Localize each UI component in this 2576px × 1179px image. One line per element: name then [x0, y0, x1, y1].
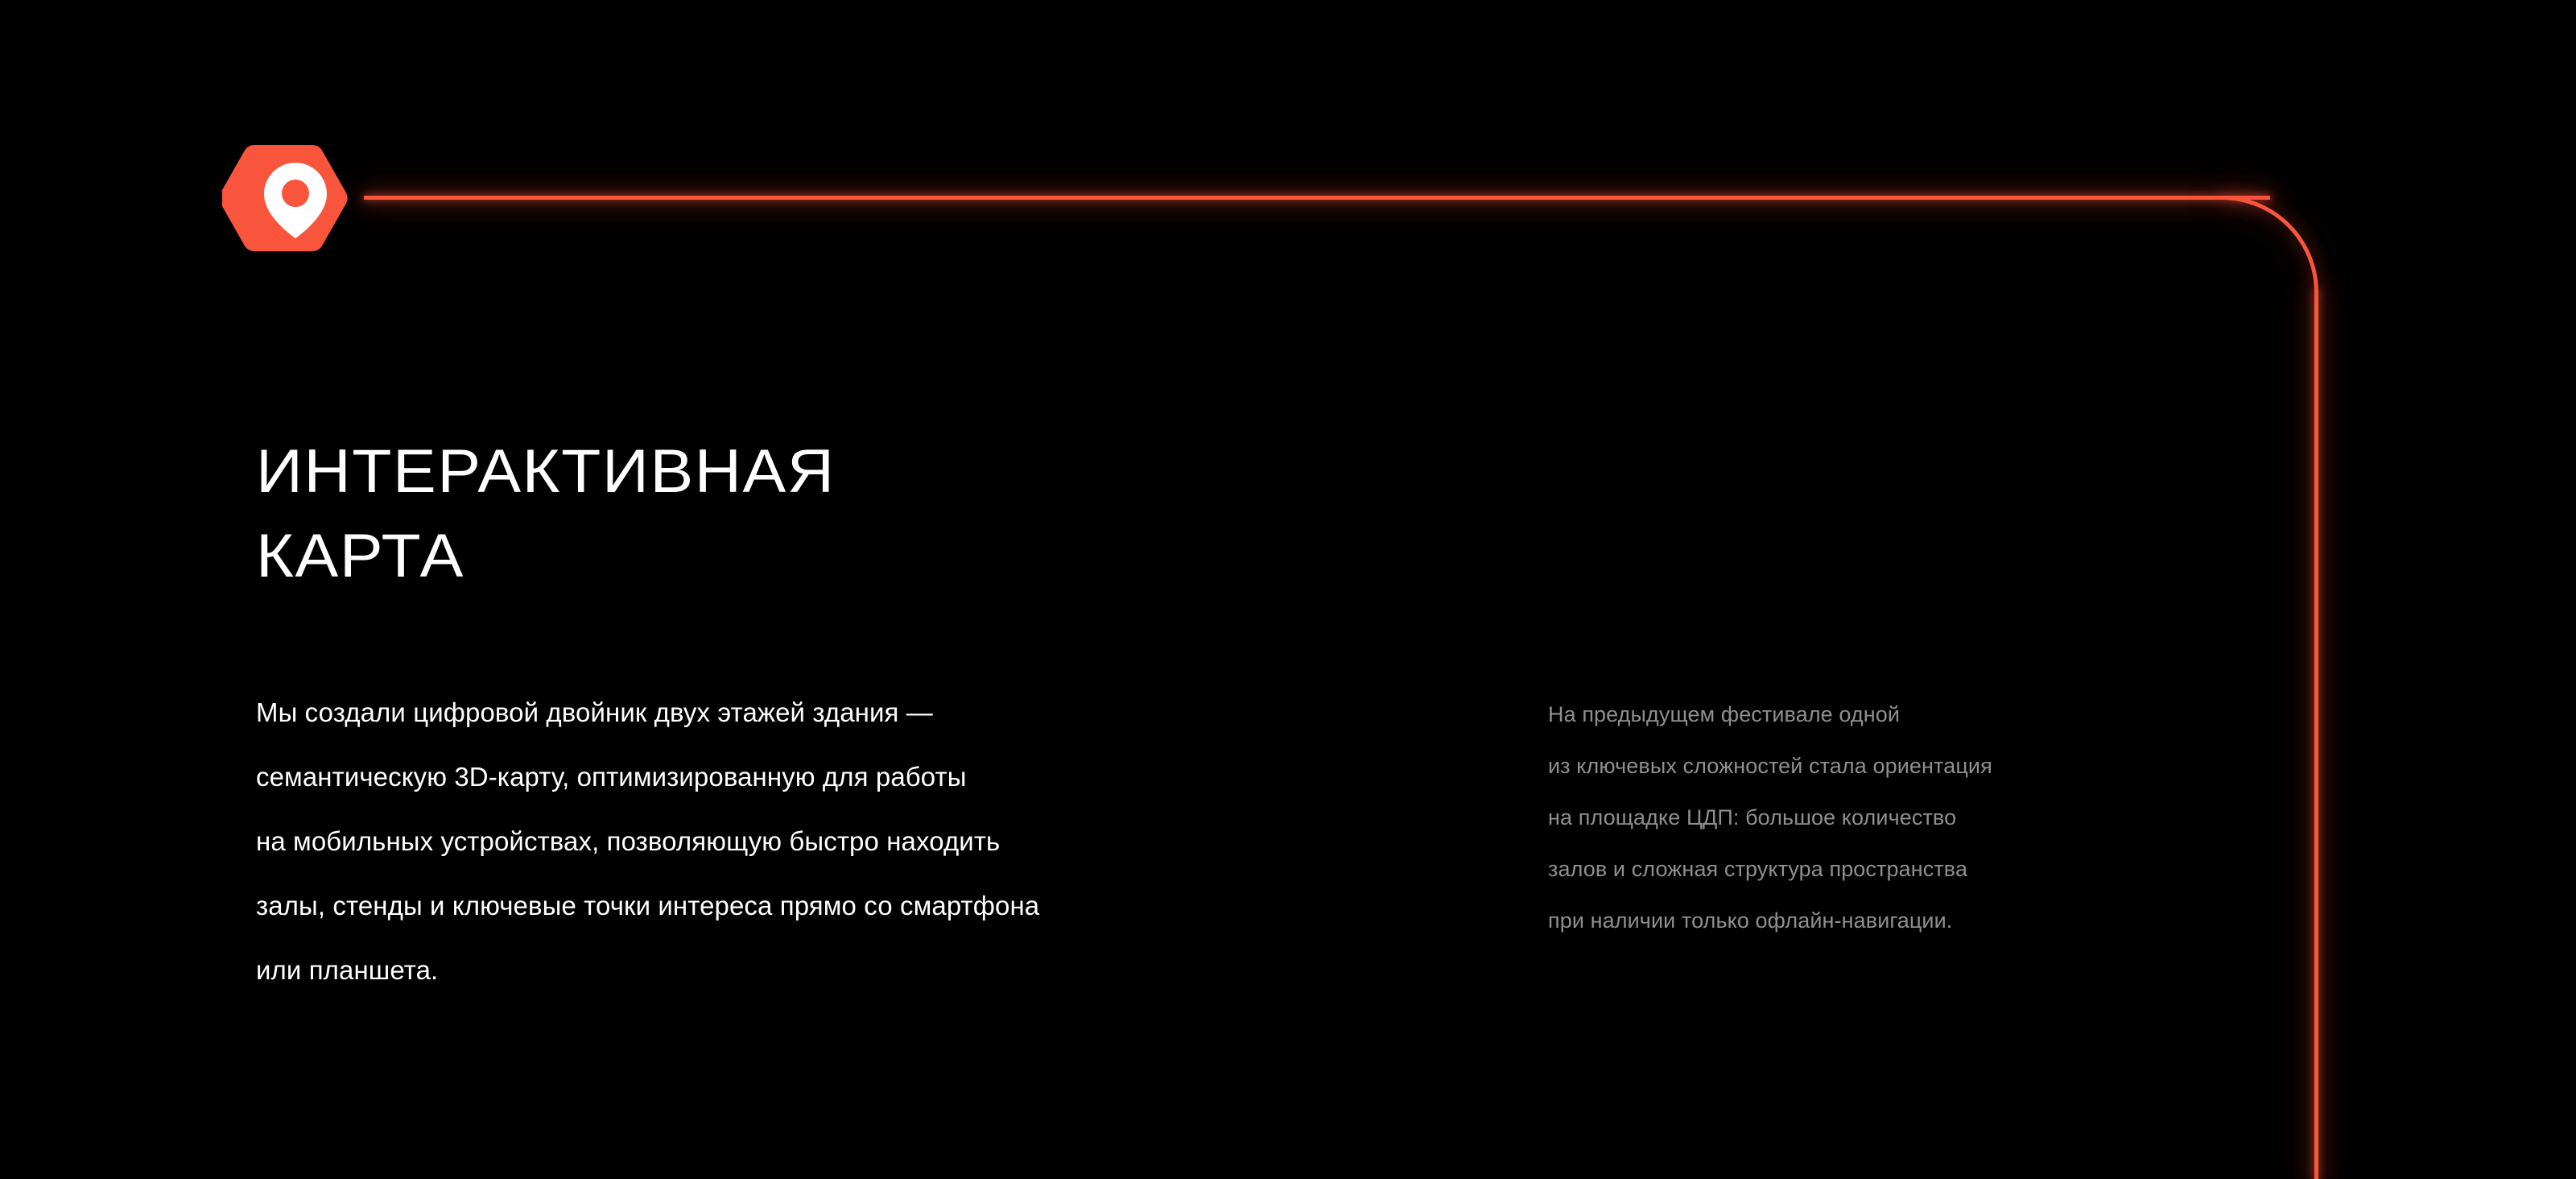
main-description-paragraph: Мы создали цифровой двойник двух этажей … — [256, 681, 1399, 1003]
connector-horizontal-segment — [364, 196, 2270, 200]
connector-vertical-segment — [2314, 290, 2318, 1179]
page-title: ИНТЕРАКТИВНАЯ КАРТА — [256, 429, 1451, 598]
map-pin-hexagon-badge — [222, 125, 369, 271]
map-pin-hole — [282, 180, 309, 207]
aside-context-paragraph: На предыдущем фестивале одной из ключевы… — [1548, 689, 2208, 946]
slide-root: ИНТЕРАКТИВНАЯ КАРТА Мы создали цифровой … — [0, 0, 2576, 1179]
connector-rounded-corner — [2222, 196, 2318, 292]
